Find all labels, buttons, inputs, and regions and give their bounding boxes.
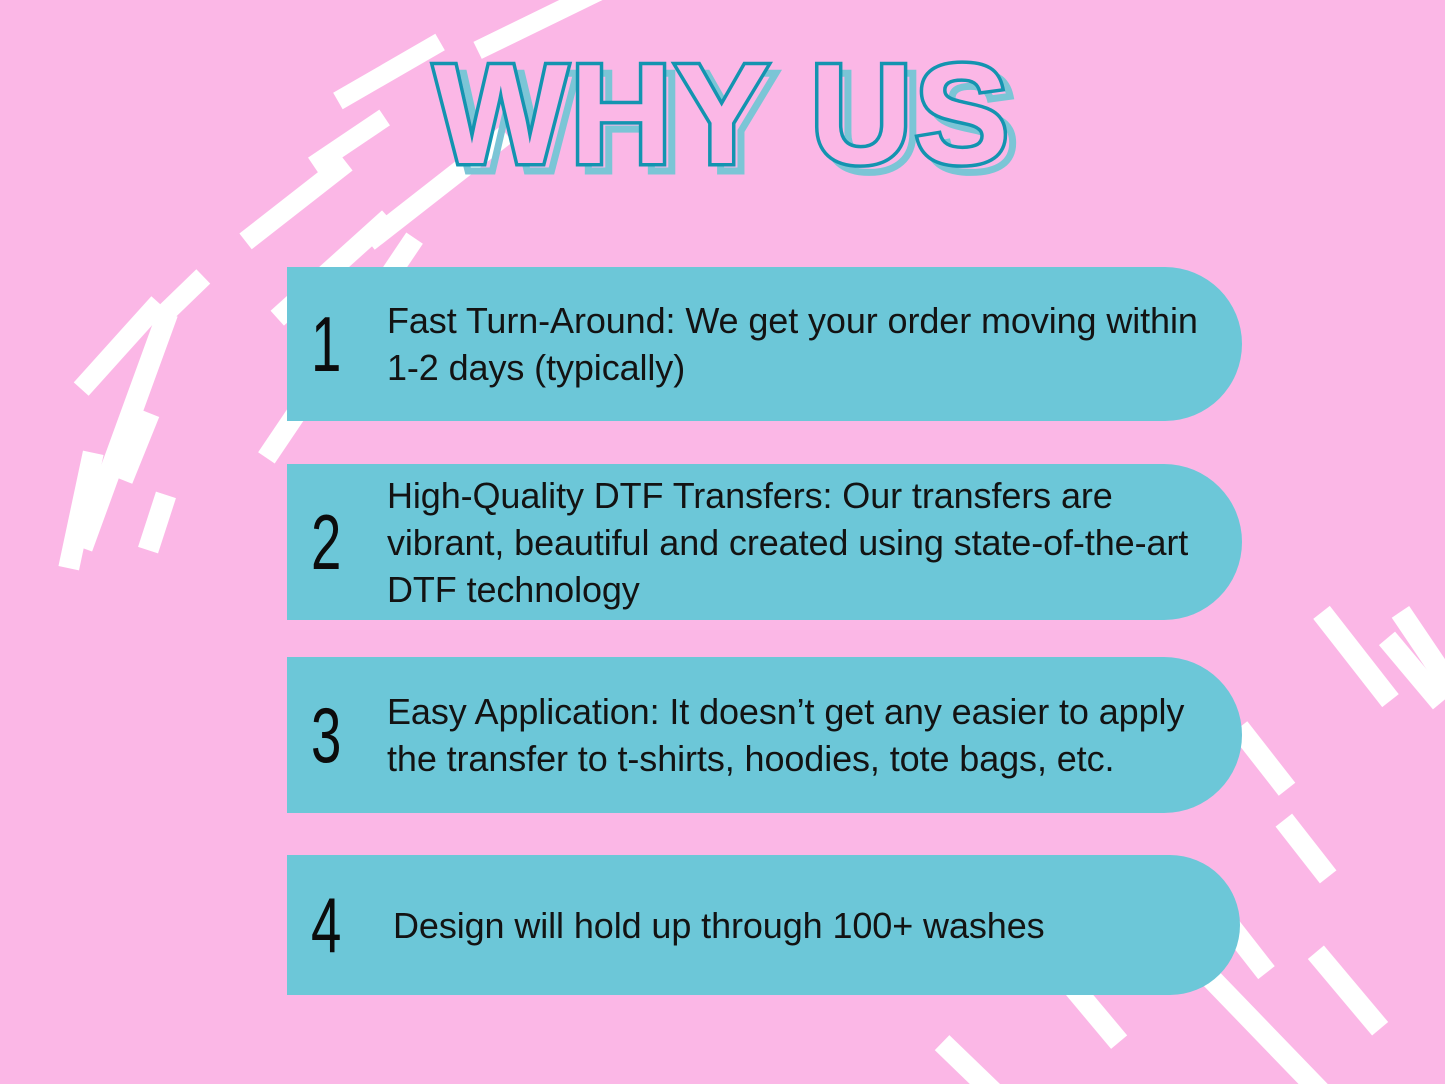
decorative-stripe — [1201, 969, 1348, 1084]
benefit-card: 2 High-Quality DTF Transfers: Our transf… — [287, 464, 1242, 620]
benefit-text: High-Quality DTF Transfers: Our transfer… — [387, 472, 1242, 613]
decorative-stripe — [1313, 606, 1399, 707]
benefit-card: 1 Fast Turn-Around: We get your order mo… — [287, 267, 1242, 421]
decorative-stripe — [1308, 945, 1388, 1035]
benefit-number: 1 — [311, 307, 354, 381]
decorative-stripe — [72, 309, 177, 551]
benefit-number: 2 — [311, 505, 354, 579]
decorative-stripe — [935, 1035, 1011, 1084]
benefit-text: Easy Application: It doesn’t get any eas… — [387, 688, 1242, 782]
decorative-stripe — [1276, 814, 1337, 884]
decorative-stripe — [58, 451, 103, 571]
benefit-number: 3 — [311, 698, 354, 772]
decorative-stripe — [113, 409, 159, 484]
decorative-stripe — [1379, 632, 1445, 710]
benefit-text: Fast Turn-Around: We get your order movi… — [387, 297, 1242, 391]
benefit-number: 4 — [311, 888, 354, 962]
poster-canvas: WHY US WHY US WHY US 1 Fast Turn-Around:… — [0, 0, 1445, 1084]
page-title-fill-layer: WHY US — [0, 44, 1445, 186]
benefit-card: 3 Easy Application: It doesn’t get any e… — [287, 657, 1242, 813]
page-title: WHY US WHY US WHY US — [0, 44, 1445, 194]
decorative-stripe — [74, 296, 166, 396]
decorative-stripe — [152, 269, 210, 326]
benefit-card: 4 Design will hold up through 100+ washe… — [287, 855, 1240, 995]
decorative-stripe — [138, 492, 176, 554]
decorative-stripe — [1392, 606, 1445, 815]
benefit-text: Design will hold up through 100+ washes — [393, 902, 1240, 949]
